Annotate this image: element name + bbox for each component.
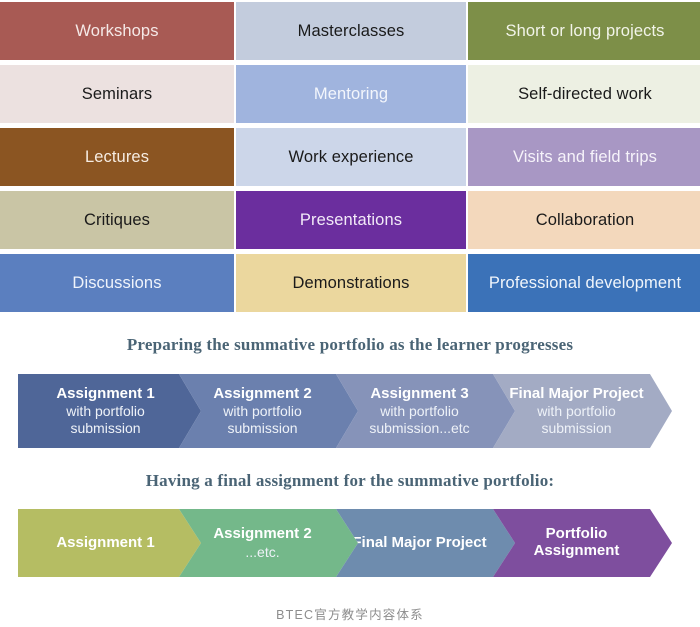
process-step: Assignment 3with portfolio submission...… [336, 374, 515, 448]
flow-heading-preparing-summative-portfolio: Preparing the summative portfolio as the… [0, 335, 700, 355]
process-step-title: Assignment 1 [56, 386, 154, 403]
grid-cell: Seminars [0, 65, 234, 123]
process-step-title: Final Major Project [352, 535, 486, 552]
process-step-subtitle: with portfolio submission [36, 403, 175, 436]
figure-caption: BTEC官方教学内容体系 [0, 604, 700, 623]
grid-cell: Professional development [468, 254, 700, 312]
teaching-methods-grid: WorkshopsMasterclassesShort or long proj… [0, 2, 700, 312]
grid-cell: Lectures [0, 128, 234, 186]
process-step-title: Assignment 2 [213, 526, 311, 543]
process-step: Assignment 1with portfolio submission [18, 374, 201, 448]
process-step-subtitle: with portfolio submission [507, 403, 646, 436]
process-step: Final Major Projectwith portfolio submis… [493, 374, 672, 448]
grid-cell: Presentations [236, 191, 466, 249]
grid-cell: Discussions [0, 254, 234, 312]
process-flow-final-assignment: Assignment 1Assignment 2...etc.Final Maj… [18, 509, 672, 577]
process-step-title: Assignment 1 [56, 535, 154, 552]
process-step: Final Major Project [336, 509, 515, 577]
grid-cell: Demonstrations [236, 254, 466, 312]
process-step-title: Assignment 3 [370, 386, 468, 403]
process-flow-progressive-assignments: Assignment 1with portfolio submissionAss… [18, 374, 672, 448]
process-step: Assignment 1 [18, 509, 201, 577]
process-step-subtitle: with portfolio submission [193, 403, 332, 436]
flow-heading-final-assignment: Having a final assignment for the summat… [0, 471, 700, 491]
grid-cell: Short or long projects [468, 2, 700, 60]
process-step-subtitle: with portfolio submission...etc [350, 403, 489, 436]
process-step: Assignment 2with portfolio submission [179, 374, 358, 448]
process-step: Portfolio Assignment [493, 509, 672, 577]
grid-cell: Critiques [0, 191, 234, 249]
grid-cell: Self-directed work [468, 65, 700, 123]
process-step-title: Portfolio Assignment [507, 526, 646, 560]
process-step-subtitle: ...etc. [245, 544, 279, 561]
grid-cell: Mentoring [236, 65, 466, 123]
grid-cell: Work experience [236, 128, 466, 186]
grid-cell: Workshops [0, 2, 234, 60]
process-step-title: Assignment 2 [213, 386, 311, 403]
grid-cell: Collaboration [468, 191, 700, 249]
grid-cell: Visits and field trips [468, 128, 700, 186]
process-step-title: Final Major Project [509, 386, 643, 403]
grid-cell: Masterclasses [236, 2, 466, 60]
process-step: Assignment 2...etc. [179, 509, 358, 577]
